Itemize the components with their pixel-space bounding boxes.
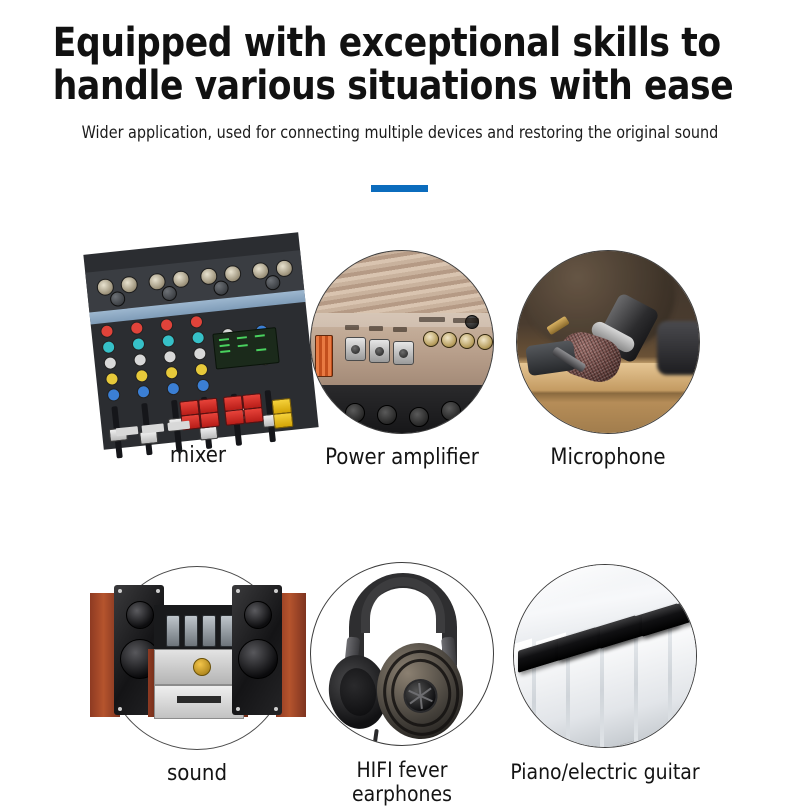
feature-item-earphones[interactable]: HIFI fever earphones <box>302 562 502 806</box>
feature-row-2: sound <box>0 520 800 800</box>
feature-item-mixer[interactable]: mixer <box>98 248 298 468</box>
feature-caption: Piano/electric guitar <box>505 760 705 784</box>
accent-divider-bar <box>371 185 428 192</box>
sound-system-photo <box>106 567 288 749</box>
page-title: Equipped with exceptional skills to hand… <box>0 0 768 108</box>
page-title-line-1: Equipped with exceptional skills to <box>53 22 720 65</box>
feature-item-sound[interactable]: sound <box>97 566 297 786</box>
microphone-photo-circle <box>516 250 700 434</box>
page-subtitle: Wider application, used for connecting m… <box>12 108 788 144</box>
feature-caption: sound <box>97 762 297 786</box>
page-header: Equipped with exceptional skills to hand… <box>0 0 800 144</box>
mixer-photo <box>107 249 289 431</box>
feature-caption: Microphone <box>508 446 708 470</box>
feature-item-power-amplifier[interactable]: Power amplifier <box>302 250 502 470</box>
piano-keys-photo <box>514 565 696 747</box>
feature-caption: Power amplifier <box>302 446 502 470</box>
headphones-photo <box>311 563 493 745</box>
feature-item-piano[interactable]: Piano/electric guitar <box>505 564 705 784</box>
power-amplifier-photo <box>311 251 493 433</box>
power-amplifier-photo-circle <box>310 250 494 434</box>
feature-item-microphone[interactable]: Microphone <box>508 250 708 470</box>
microphone-photo <box>517 251 699 433</box>
feature-caption: mixer <box>98 444 298 468</box>
headphones-photo-circle <box>310 562 494 746</box>
mixer-photo-circle <box>106 248 290 432</box>
feature-caption: HIFI fever earphones <box>302 758 502 806</box>
feature-row-1: mixer <box>0 240 800 520</box>
sound-photo-circle <box>105 566 289 750</box>
page-title-line-2: handle various situations with ease <box>53 65 720 108</box>
feature-grid: mixer <box>0 240 800 800</box>
piano-photo-circle <box>513 564 697 748</box>
